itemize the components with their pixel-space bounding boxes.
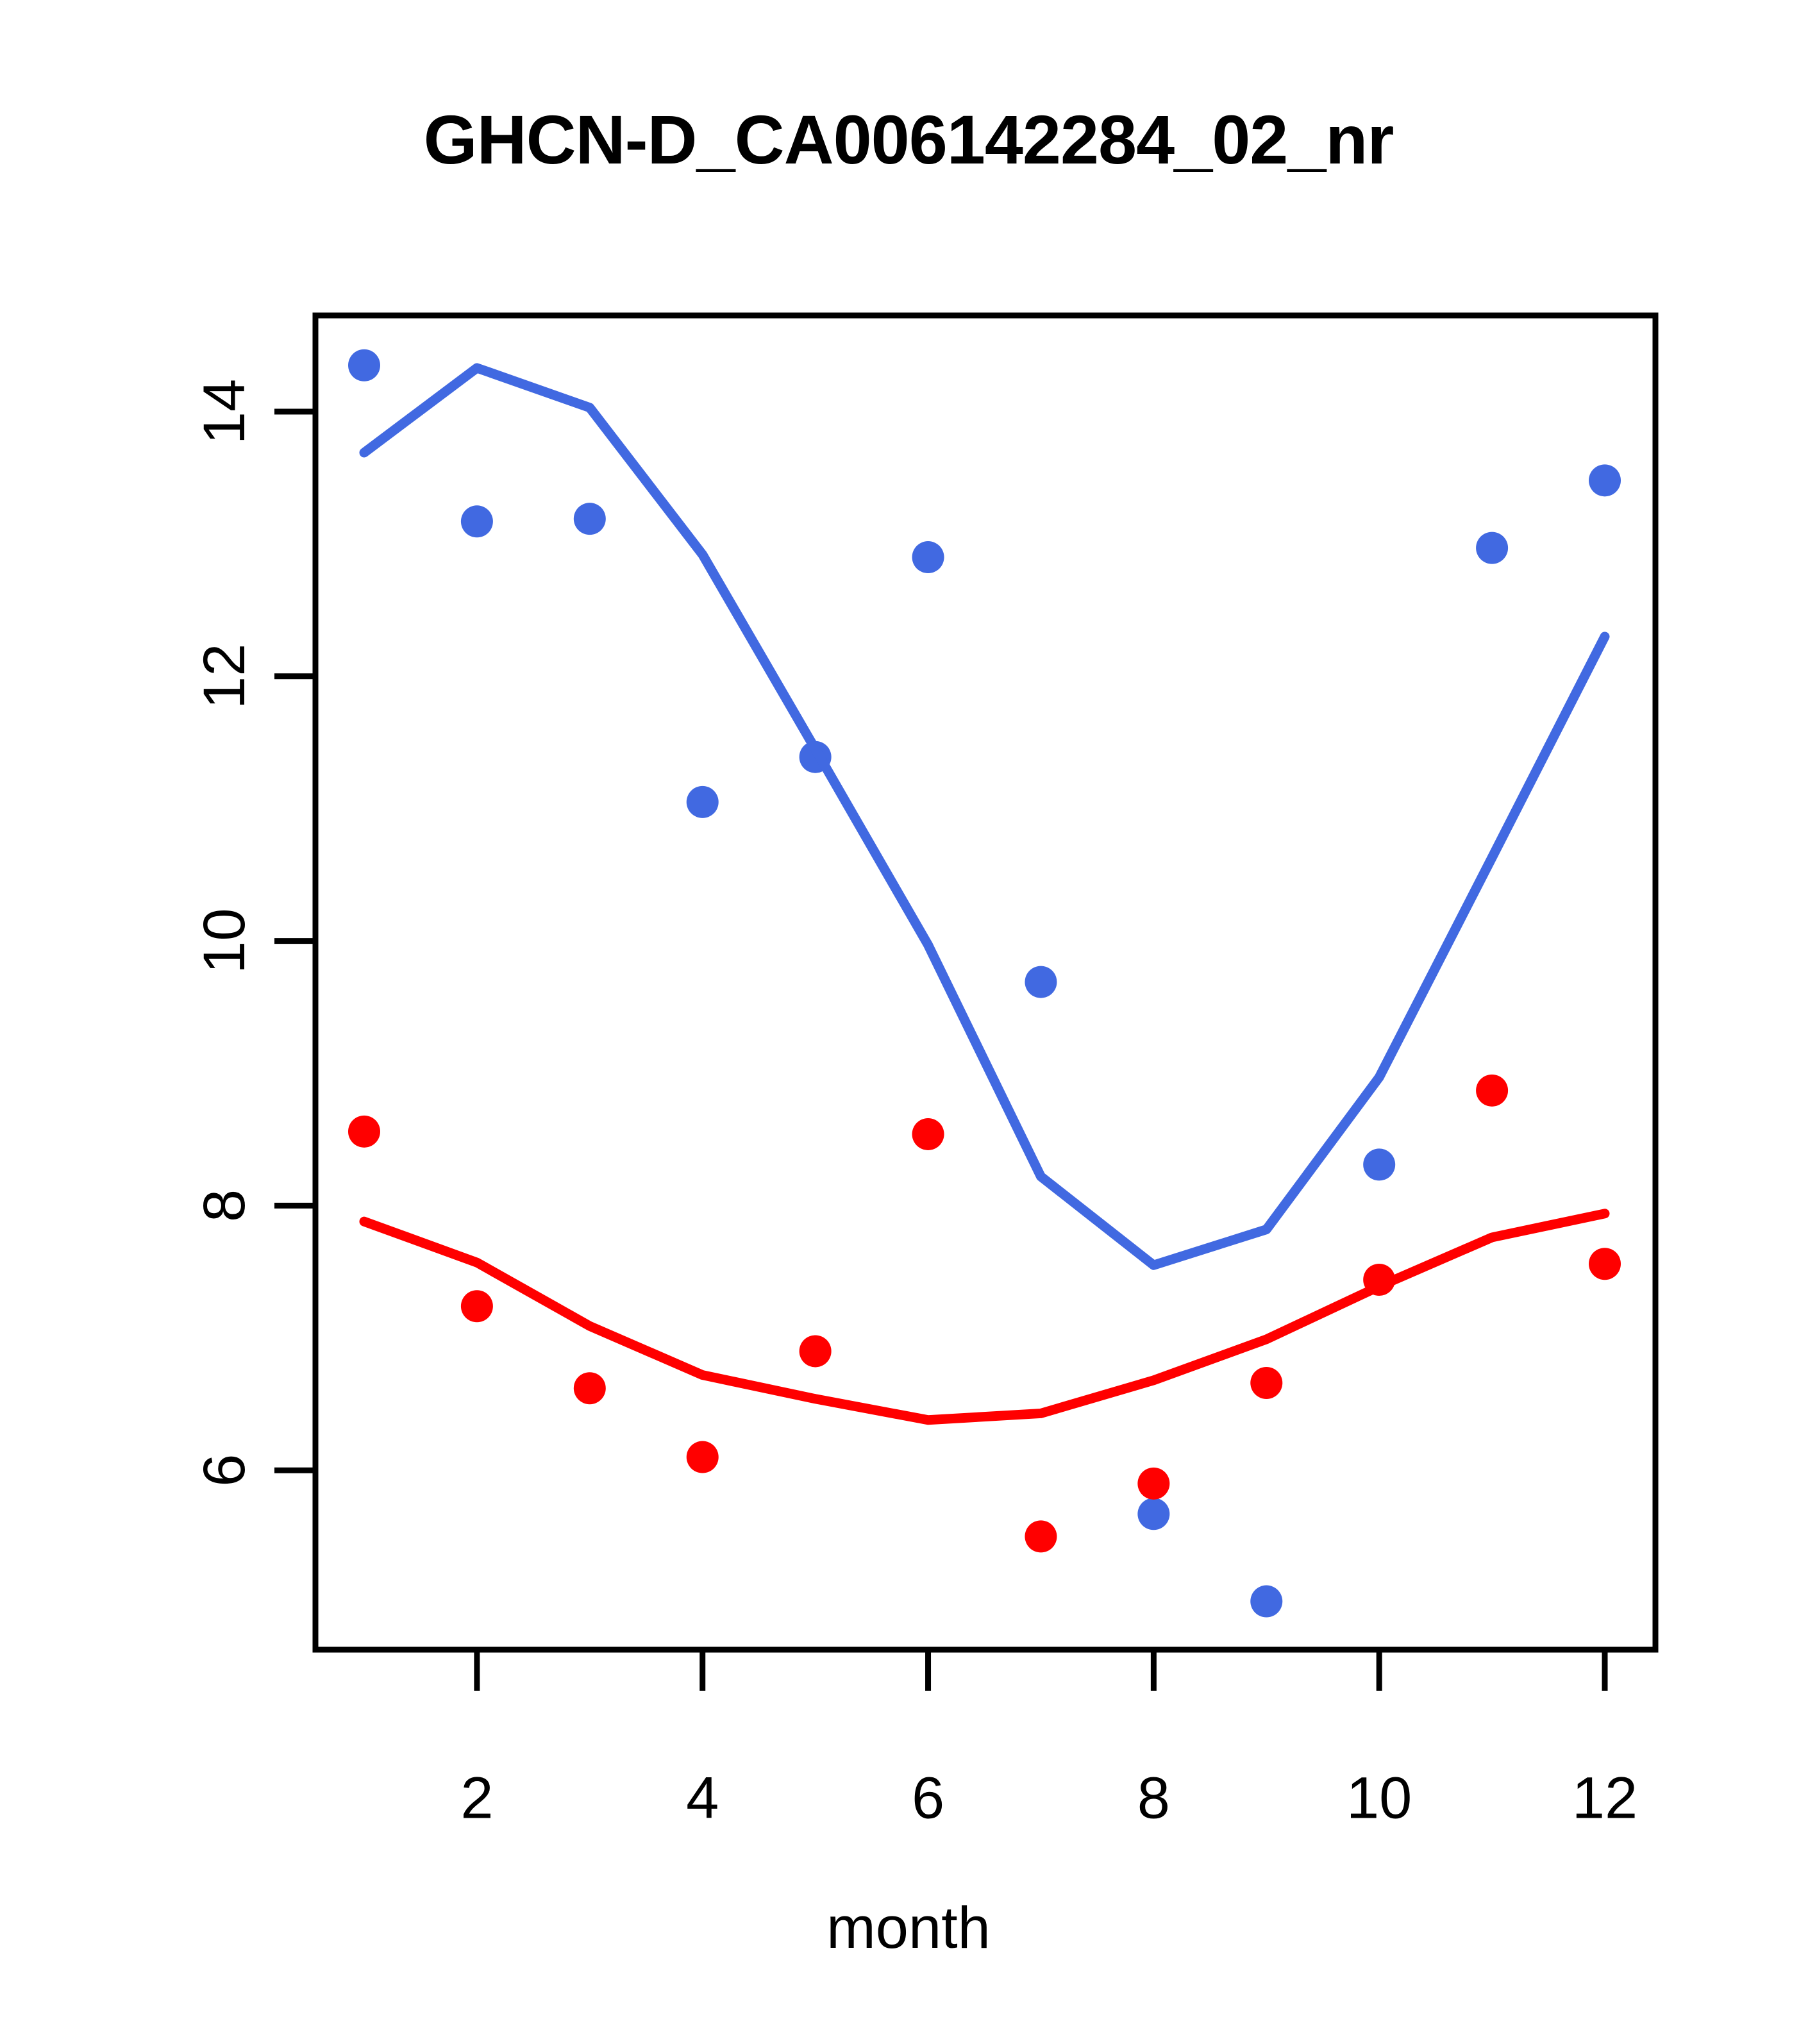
x-axis-ticks	[477, 1650, 1605, 1691]
data-point	[348, 1116, 380, 1148]
x-tick-label: 2	[460, 1766, 493, 1831]
x-tick-label: 10	[1346, 1766, 1412, 1831]
data-point	[1025, 1520, 1057, 1552]
data-point	[800, 1335, 832, 1367]
data-point	[1137, 1498, 1169, 1530]
chart-page: GHCN-D_CA006142284_02_nr 681012142468101…	[0, 0, 1817, 2044]
data-point	[1476, 1075, 1508, 1107]
data-point	[1589, 464, 1621, 496]
data-point	[687, 786, 719, 818]
data-point	[1476, 532, 1508, 564]
series-line-red-line	[364, 1214, 1605, 1420]
data-point	[1363, 1148, 1395, 1180]
data-point	[1250, 1367, 1282, 1399]
data-point	[687, 1441, 719, 1473]
plot-frame	[315, 315, 1655, 1650]
tick-labels: 6810121424681012	[192, 379, 1637, 1831]
data-point	[348, 349, 380, 381]
x-tick-label: 8	[1137, 1766, 1170, 1831]
data-point	[461, 505, 493, 537]
data-point	[574, 1372, 606, 1404]
data-point	[1250, 1586, 1282, 1618]
x-tick-label: 6	[912, 1766, 944, 1831]
series-line-blue-line	[364, 368, 1605, 1265]
series-layer	[348, 349, 1621, 1618]
y-tick-label: 12	[192, 644, 257, 709]
x-tick-label: 12	[1572, 1766, 1637, 1831]
y-tick-label: 14	[192, 379, 257, 444]
data-point	[912, 541, 944, 573]
x-axis-title: month	[0, 1895, 1817, 1962]
y-tick-label: 8	[192, 1189, 257, 1222]
data-point	[1137, 1468, 1169, 1500]
x-tick-label: 4	[686, 1766, 719, 1831]
plot-border	[315, 315, 1655, 1650]
data-point	[912, 1118, 944, 1150]
data-point	[1589, 1248, 1621, 1280]
data-point	[574, 503, 606, 535]
y-tick-label: 6	[192, 1454, 257, 1487]
data-point	[1025, 966, 1057, 998]
series-points-red-points	[348, 1075, 1621, 1553]
y-axis-ticks	[274, 412, 315, 1470]
plot-canvas: 6810121424681012	[0, 0, 1817, 2044]
data-point	[461, 1290, 493, 1322]
y-tick-label: 10	[192, 908, 257, 973]
